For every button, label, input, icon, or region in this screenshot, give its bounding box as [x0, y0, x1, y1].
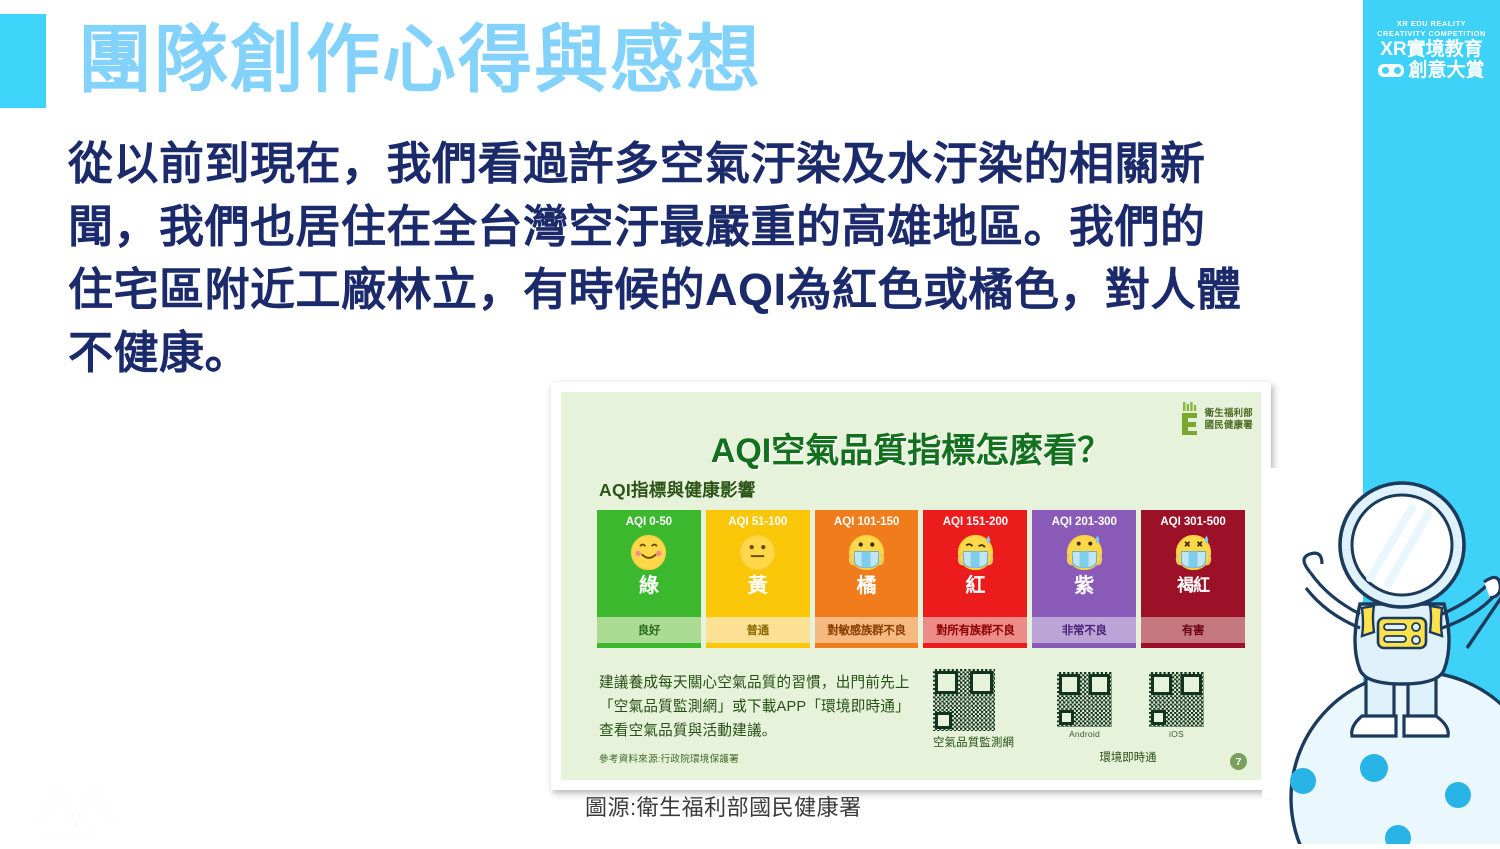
aqi-band-footer [597, 643, 701, 648]
aqi-infographic-card: 衛生福利部 國民健康署 AQI空氣品質指標怎麼看？ AQI指標與健康影響 AQI… [551, 382, 1271, 790]
aqi-band-description: 對所有族群不良 [923, 617, 1027, 643]
aqi-band-range: AQI 101-150 [834, 515, 899, 528]
qr-code-ios-icon[interactable] [1149, 672, 1204, 727]
qr-caption-monitoring: 空氣品質監測網 [933, 734, 1014, 750]
aqi-band-footer [923, 643, 1027, 648]
aqi-face-neutral-icon [737, 532, 778, 573]
body-paragraph: 從以前到現在，我們看過許多空氣汙染及水汙染的相關新聞，我們也居住在全台灣空汙最嚴… [68, 132, 1248, 384]
aqi-band-top: AQI 101-150橘 [815, 510, 919, 617]
aqi-band-5: AQI 201-300紫非常不良 [1032, 510, 1136, 648]
aqi-band-footer [1032, 643, 1136, 648]
aqi-band-name: 紫 [1074, 575, 1094, 597]
logo-line-3: XR實境教育 [1380, 40, 1482, 60]
aqi-band-range: AQI 201-300 [1052, 515, 1117, 528]
aqi-band-name: 綠 [639, 575, 659, 597]
aqi-band-footer [815, 643, 919, 648]
page-title: 團隊創作心得與感想 [78, 12, 762, 108]
aqi-band-description: 有害 [1141, 617, 1245, 643]
advice-text: 建議養成每天關心空氣品質的習慣，出門前先上「空氣品質監測網」或下載APP「環境即… [599, 671, 917, 743]
aqi-face-happy-icon [628, 532, 669, 573]
source-text: 參考資料來源:行政院環境保護署 [599, 751, 739, 765]
aqi-band-range: AQI 51-100 [728, 515, 787, 528]
qr-caption-ios: iOS [1149, 729, 1204, 739]
logo-line-2: CREATIVITY COMPETITION [1377, 29, 1486, 39]
aqi-band-top: AQI 151-200紅 [923, 510, 1027, 617]
aqi-band-3: AQI 101-150橘對敏感族群不良 [815, 510, 919, 648]
xr-competition-logo: XR EDU REALITY CREATIVITY COMPETITION XR… [1363, 0, 1500, 96]
aqi-band-4: AQI 151-200紅對所有族群不良 [923, 510, 1027, 648]
aqi-band-description: 對敏感族群不良 [815, 617, 919, 643]
aqi-band-range: AQI 0-50 [626, 515, 672, 528]
qr-code-android-icon[interactable] [1057, 672, 1112, 727]
title-accent-bar [0, 14, 46, 108]
aqi-face-sick-icon [1064, 532, 1105, 573]
aqi-band-range: AQI 151-200 [943, 515, 1008, 528]
aqi-band-name: 橘 [857, 575, 877, 597]
page-number-badge: 7 [1230, 753, 1247, 770]
org-line-1: 衛生福利部 [1205, 407, 1253, 418]
card-right-mask [1262, 468, 1284, 798]
aqi-band-top: AQI 51-100黃 [706, 510, 810, 617]
aqi-band-description: 良好 [597, 617, 701, 643]
svg-text:MAKAR: MAKAR [40, 826, 101, 841]
aqi-infographic: 衛生福利部 國民健康署 AQI空氣品質指標怎麼看？ AQI指標與健康影響 AQI… [561, 392, 1261, 780]
qr-block-ios: iOS [1149, 672, 1204, 739]
aqi-band-description: 普通 [706, 617, 810, 643]
logo-line-4: 創意大賞 [1408, 61, 1484, 81]
aqi-band-description: 非常不良 [1032, 617, 1136, 643]
qr-code-area: 空氣品質監測網 Android iOS 環境即時通 [933, 669, 1223, 765]
qr-code-monitoring-icon[interactable] [933, 669, 995, 731]
aqi-face-mask-icon [846, 532, 887, 573]
aqi-face-dead-icon [1173, 532, 1214, 573]
qr-caption-android: Android [1057, 729, 1112, 739]
aqi-band-top: AQI 301-500褐紅 [1141, 510, 1245, 617]
vr-goggles-icon [1378, 64, 1404, 77]
aqi-band-1: AQI 0-50綠良好 [597, 510, 701, 648]
aqi-band-top: AQI 0-50綠 [597, 510, 701, 617]
aqi-band-footer [1141, 643, 1245, 648]
aqi-band-2: AQI 51-100黃普通 [706, 510, 810, 648]
qr-block-monitoring: 空氣品質監測網 [933, 669, 1014, 750]
aqi-face-sweat-icon [955, 532, 996, 573]
aqi-band-range: AQI 301-500 [1160, 515, 1225, 528]
qr-block-android: Android [1057, 672, 1112, 739]
aqi-band-top: AQI 201-300紫 [1032, 510, 1136, 617]
aqi-band-name: 褐紅 [1177, 575, 1209, 597]
aqi-band-name: 紅 [965, 575, 985, 597]
right-accent-band [1363, 0, 1500, 844]
image-source-caption: 圖源:衛生福利部國民健康署 [585, 790, 862, 822]
logo-line-1: XR EDU REALITY [1397, 19, 1466, 29]
aqi-band-row: AQI 0-50綠良好AQI 51-100黃普通AQI 101-150橘對敏感族… [597, 510, 1245, 648]
aqi-band-6: AQI 301-500褐紅有害 [1141, 510, 1245, 648]
infographic-subtitle: AQI指標與健康影響 [599, 477, 756, 502]
watermark-logo: MAKAR [32, 782, 182, 842]
aqi-band-name: 黃 [748, 575, 768, 597]
qr-group-caption: 環境即時通 [1033, 749, 1223, 765]
infographic-title: AQI空氣品質指標怎麼看？ [561, 423, 1261, 472]
aqi-band-footer [706, 643, 810, 648]
